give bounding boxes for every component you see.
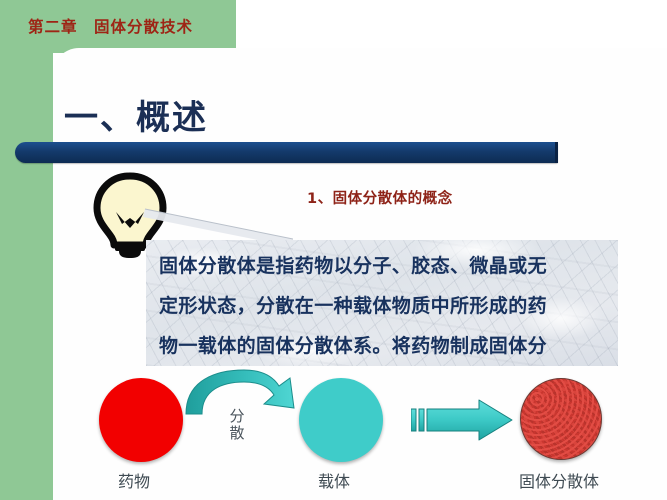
definition-textbox: 固体分散体是指药物以分子、胶态、微晶或无 定形状态，分散在一种载体物质中所形成的… <box>146 240 618 366</box>
definition-line-1: 固体分散体是指药物以分子、胶态、微晶或无 <box>146 240 618 280</box>
drug-circle <box>99 378 183 462</box>
carrier-circle <box>299 378 383 462</box>
green-side-band <box>0 0 53 500</box>
solid-dispersion-circle <box>520 378 602 460</box>
page-title: 一、概述 <box>64 98 208 138</box>
slide-canvas: 第二章 固体分散技术 一、概述 1、固体分散体的概念 固体分散体是指药物以分子、… <box>0 0 667 500</box>
block-arrow-icon <box>411 398 514 442</box>
section-subtitle: 1、固体分散体的概念 <box>307 187 453 208</box>
drug-label: 药物 <box>118 468 150 492</box>
carrier-label: 载体 <box>318 468 350 492</box>
solid-dispersion-label: 固体分散体 <box>519 468 599 492</box>
navy-divider-bar <box>15 142 558 163</box>
definition-line-3: 物一载体的固体分散体系。将药物制成固体分 <box>146 320 618 360</box>
process-label: 分散 <box>221 408 253 442</box>
chapter-title: 第二章 固体分散技术 <box>28 14 233 40</box>
definition-line-4: 散体所用的制剂技术称为固体分散技术。 <box>146 360 618 366</box>
definition-line-2: 定形状态，分散在一种载体物质中所形成的药 <box>146 280 618 320</box>
process-label-char-1: 分散 <box>229 407 244 442</box>
